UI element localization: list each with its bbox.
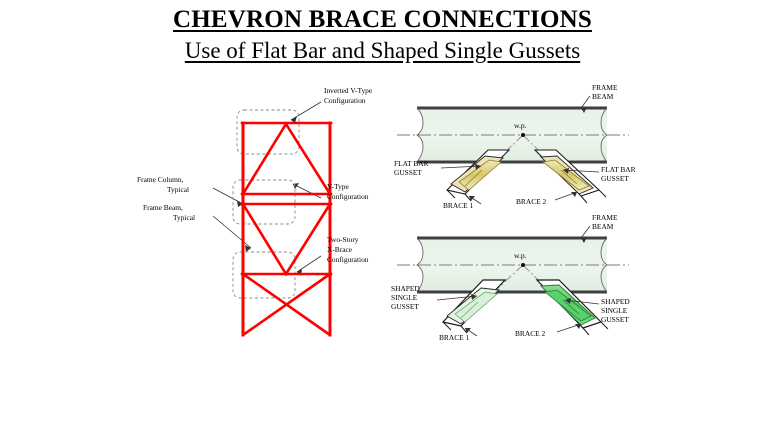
label-v-type-line1: V-Type	[327, 182, 350, 191]
label-two-story-line2: X-Brace	[327, 245, 353, 254]
label-two-story-line3: Configuration	[327, 255, 369, 264]
label-brace-2: BRACE 2	[515, 329, 545, 338]
label-gusset-left-line3: GUSSET	[391, 302, 419, 311]
work-point-marker	[521, 133, 525, 137]
label-gusset-left-line1: SHAPED	[391, 284, 420, 293]
page-subtitle: Use of Flat Bar and Shaped Single Gusset…	[0, 38, 765, 64]
label-gusset-right-line1: SHAPED	[601, 297, 630, 306]
frame-braces	[243, 124, 330, 335]
label-frame-column-line1: Frame Column,	[137, 175, 184, 184]
label-work-point: w.p.	[514, 251, 527, 260]
label-inverted-v-line1: Inverted V-Type	[324, 86, 373, 95]
label-work-point: w.p.	[514, 121, 527, 130]
shaped-single-gusset-detail: FRAME BEAM w.p. SHAPED SINGLE GUSSET SHA…	[385, 208, 655, 344]
label-brace-1: BRACE 1	[439, 333, 469, 342]
flat-bar-gusset-detail: FRAME BEAM w.p. FLAT BAR GUSSET FLAT BAR…	[385, 80, 655, 212]
label-frame-beam-line2: Typical	[173, 213, 195, 222]
label-frame-beam-line1: FRAME	[592, 213, 618, 222]
label-gusset-right-line1: FLAT BAR	[601, 165, 636, 174]
label-two-story-line1: Two-Story	[327, 235, 359, 244]
label-frame-beam-line2: BEAM	[592, 92, 614, 101]
label-brace-2: BRACE 2	[516, 197, 546, 206]
label-gusset-left-line2: GUSSET	[394, 168, 422, 177]
page-title: CHEVRON BRACE CONNECTIONS	[0, 6, 765, 35]
label-v-type-line2: Configuration	[327, 192, 369, 201]
label-gusset-right-line3: GUSSET	[601, 315, 629, 324]
frame-beams	[242, 123, 331, 274]
footer: AISC Presented by: Patrick J. Fortney, P…	[0, 348, 765, 430]
label-frame-column-line2: Typical	[167, 185, 189, 194]
label-frame-beam-line1: FRAME	[592, 83, 618, 92]
title-block: CHEVRON BRACE CONNECTIONS Use of Flat Ba…	[0, 6, 765, 64]
label-inverted-v-line2: Configuration	[324, 96, 366, 105]
work-point-marker	[521, 263, 525, 267]
label-gusset-left-line1: FLAT BAR	[394, 159, 429, 168]
label-gusset-left-line2: SINGLE	[391, 293, 418, 302]
label-gusset-right-line2: GUSSET	[601, 174, 629, 183]
braced-frame-elevation: Inverted V-Type Configuration Frame Colu…	[125, 76, 400, 344]
presentation-slide: CHEVRON BRACE CONNECTIONS Use of Flat Ba…	[0, 0, 765, 430]
label-frame-beam-line2: BEAM	[592, 222, 614, 231]
label-gusset-right-line2: SINGLE	[601, 306, 628, 315]
label-frame-beam-line1: Frame Beam,	[143, 203, 183, 212]
